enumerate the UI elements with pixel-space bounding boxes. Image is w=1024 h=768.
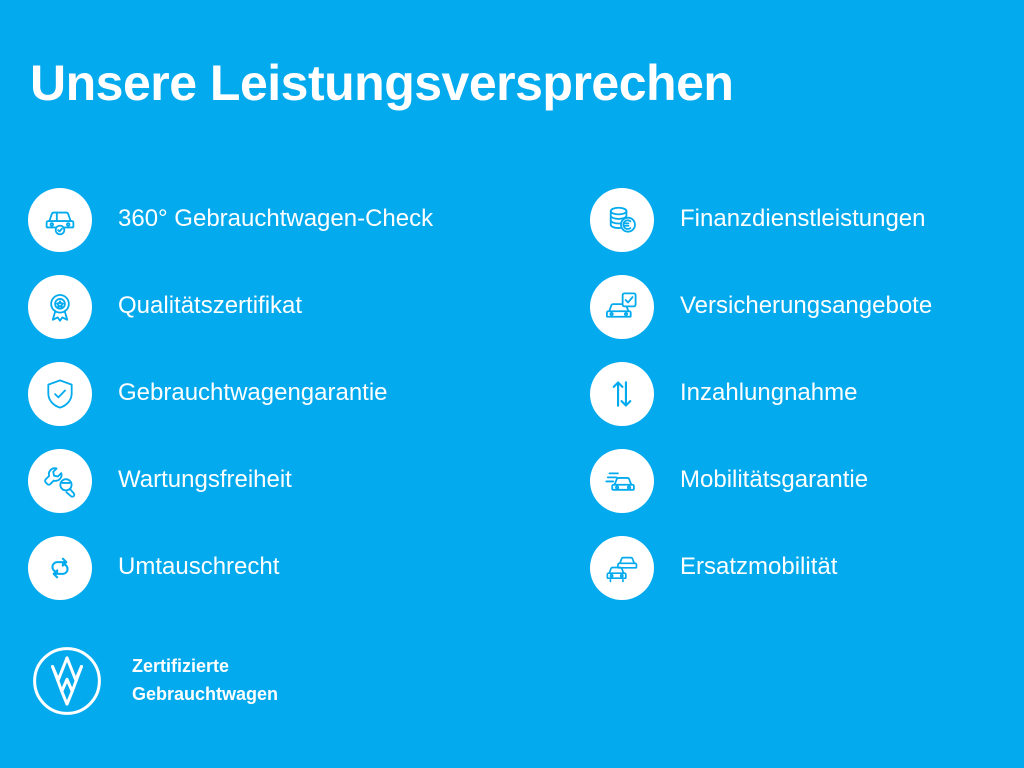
promise-item-ersatzmobilitaet[interactable]: Ersatzmobilität (590, 524, 1024, 611)
brand-text: Zertifizierte Gebrauchtwagen (132, 653, 278, 709)
promise-item-umtauschrecht[interactable]: Umtauschrecht (28, 524, 590, 611)
brand-footer: Zertifizierte Gebrauchtwagen (30, 644, 278, 718)
car-document-icon (590, 275, 654, 339)
car-motion-icon (590, 449, 654, 513)
promises-columns: 360° Gebrauchtwagen-Check Qualitätszerti… (0, 176, 1024, 611)
brand-text-line1: Zertifizierte (132, 653, 278, 681)
promise-item-inzahlungnahme[interactable]: Inzahlungnahme (590, 350, 1024, 437)
brand-text-line2: Gebrauchtwagen (132, 681, 278, 709)
shield-check-icon (28, 362, 92, 426)
promise-item-wartungsfreiheit[interactable]: Wartungsfreiheit (28, 437, 590, 524)
promise-label: Finanzdienstleistungen (680, 205, 926, 234)
promise-item-mobilitaetsgarantie[interactable]: Mobilitätsgarantie (590, 437, 1024, 524)
promise-item-gebrauchtwagengarantie[interactable]: Gebrauchtwagengarantie (28, 350, 590, 437)
volkswagen-logo-icon (30, 644, 104, 718)
wrench-tools-icon (28, 449, 92, 513)
promise-item-versicherungsangebote[interactable]: Versicherungsangebote (590, 263, 1024, 350)
promise-label: Umtauschrecht (118, 553, 279, 582)
up-down-arrows-icon (590, 362, 654, 426)
promise-label: Wartungsfreiheit (118, 466, 292, 495)
promise-label: Versicherungsangebote (680, 292, 932, 321)
promises-left-column: 360° Gebrauchtwagen-Check Qualitätszerti… (0, 176, 590, 611)
promise-item-qualitaetszertifikat[interactable]: Qualitätszertifikat (28, 263, 590, 350)
promises-poster: Unsere Leistungsversprechen 360° Gebra (0, 0, 1024, 768)
award-medal-icon (28, 275, 92, 339)
promise-label: Inzahlungnahme (680, 379, 857, 408)
promise-label: 360° Gebrauchtwagen-Check (118, 205, 433, 234)
promises-right-column: Finanzdienstleistungen Versicherungsange… (590, 176, 1024, 611)
promise-label: Ersatzmobilität (680, 553, 837, 582)
two-cars-icon (590, 536, 654, 600)
promise-item-gebrauchtwagen-check[interactable]: 360° Gebrauchtwagen-Check (28, 176, 590, 263)
exchange-arrows-icon (28, 536, 92, 600)
promise-label: Qualitätszertifikat (118, 292, 302, 321)
page-title: Unsere Leistungsversprechen (30, 56, 733, 111)
car-check-icon (28, 188, 92, 252)
promise-label: Mobilitätsgarantie (680, 466, 868, 495)
promise-label: Gebrauchtwagengarantie (118, 379, 388, 408)
promise-item-finanzdienstleistungen[interactable]: Finanzdienstleistungen (590, 176, 1024, 263)
coins-money-icon (590, 188, 654, 252)
